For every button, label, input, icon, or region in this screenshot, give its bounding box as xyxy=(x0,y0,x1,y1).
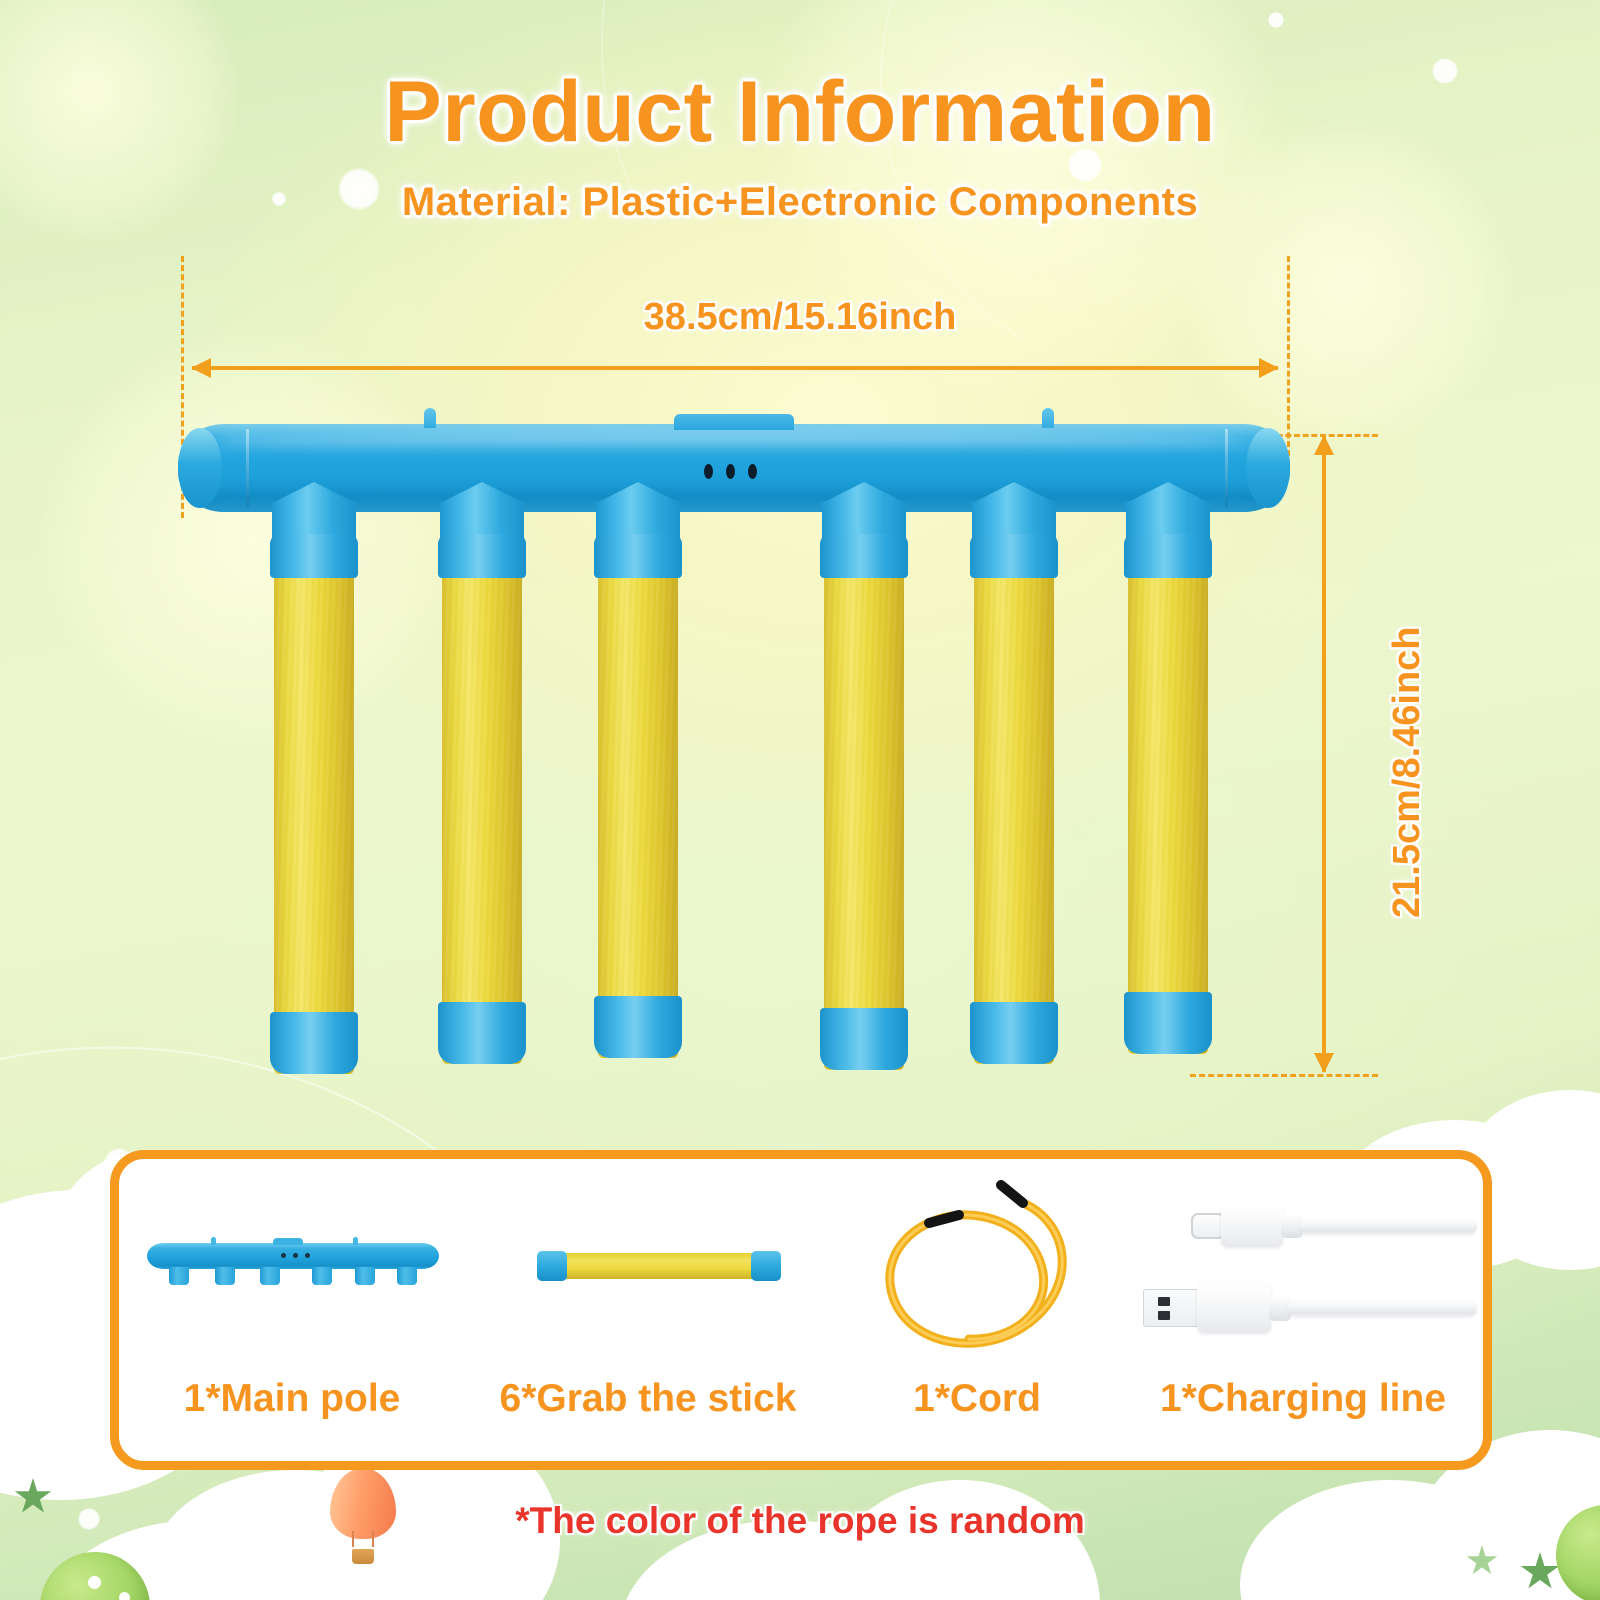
parts-list-box: 1*Main pole 6*Grab the stick xyxy=(110,1150,1492,1470)
part-label-cord: 1*Cord xyxy=(831,1377,1123,1421)
part-label-main-pole: 1*Main pole xyxy=(119,1377,465,1421)
pole-button-panel xyxy=(674,414,794,430)
dimension-guide-bottom xyxy=(1190,1074,1378,1077)
part-label-grab-stick: 6*Grab the stick xyxy=(465,1377,831,1421)
pole-nub xyxy=(1042,408,1054,428)
part-item-main-pole: 1*Main pole xyxy=(119,1159,465,1461)
height-dimension-arrow xyxy=(1322,436,1326,1072)
width-dimension-label: 38.5cm/15.16inch xyxy=(0,296,1600,339)
cord-icon xyxy=(873,1173,1093,1359)
part-item-grab-stick: 6*Grab the stick xyxy=(465,1159,831,1461)
part-item-cord: 1*Cord xyxy=(831,1159,1123,1461)
height-dimension-label: 21.5cm/8.46inch xyxy=(1386,626,1429,918)
material-subtitle: Material: Plastic+Electronic Components xyxy=(0,178,1600,226)
grab-stick xyxy=(442,540,522,1064)
grab-stick xyxy=(598,540,678,1058)
footer-note: *The color of the rope is random xyxy=(0,1500,1600,1542)
grab-stick xyxy=(1128,540,1208,1054)
product-illustration xyxy=(178,424,1290,1074)
part-item-charging-line: 1*Charging line xyxy=(1123,1159,1483,1461)
width-dimension-arrow xyxy=(192,366,1278,370)
led-indicator-dots xyxy=(704,464,757,479)
usb-a-connector-icon xyxy=(1143,1289,1201,1327)
pole-nub xyxy=(424,408,436,428)
grab-stick-icon xyxy=(537,1249,781,1283)
main-pole-icon xyxy=(147,1243,439,1291)
usb-c-connector-icon xyxy=(1191,1213,1225,1239)
part-label-charging-line: 1*Charging line xyxy=(1123,1377,1483,1421)
charging-line-icon xyxy=(1141,1201,1477,1341)
grab-stick xyxy=(274,540,354,1074)
infographic-stage: Product Information Material: Plastic+El… xyxy=(0,0,1600,1600)
grab-stick xyxy=(824,540,904,1070)
grab-stick xyxy=(974,540,1054,1064)
page-title: Product Information xyxy=(0,64,1600,160)
